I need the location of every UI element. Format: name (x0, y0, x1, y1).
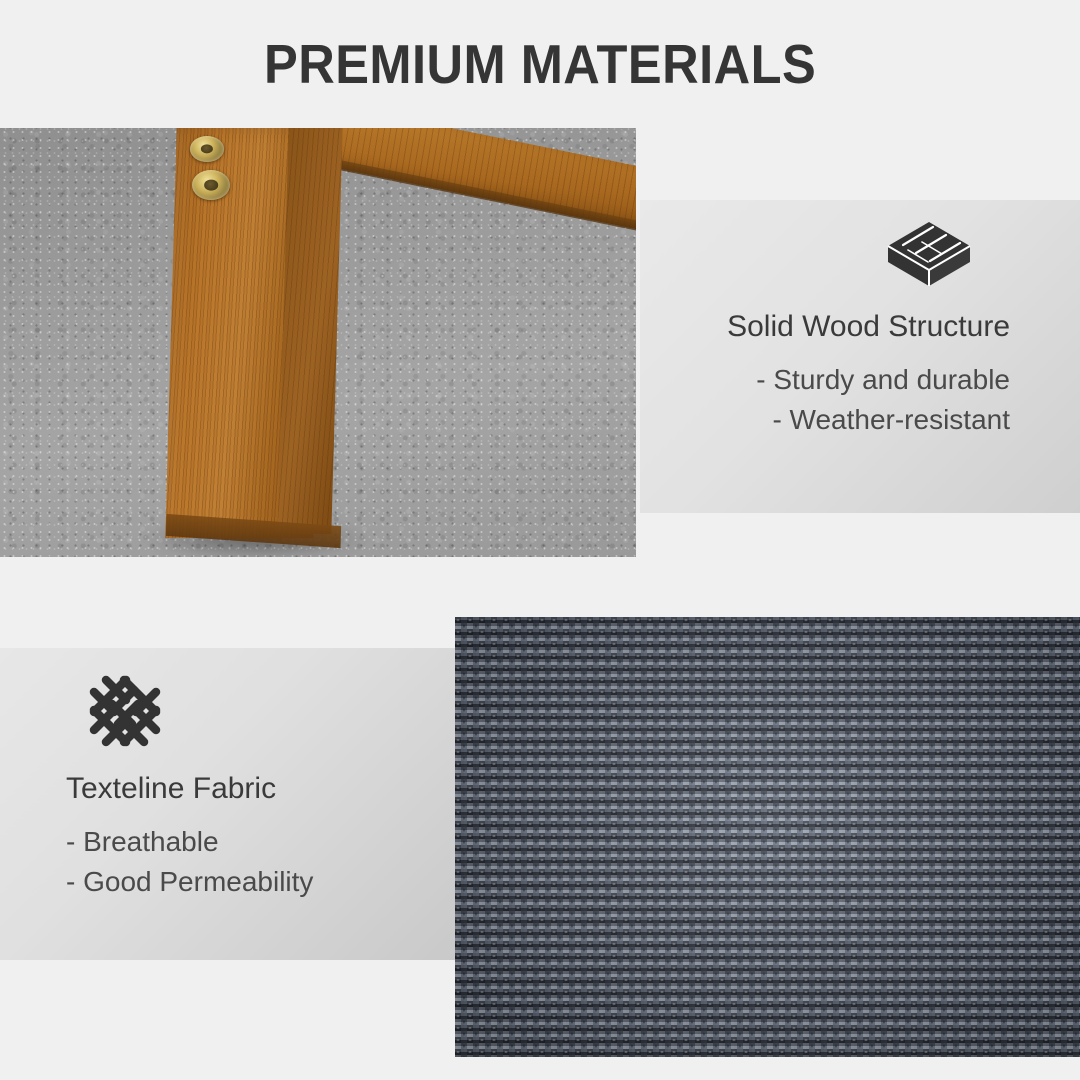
feature-heading: Texteline Fabric (66, 771, 276, 808)
textilene-fabric-photo (455, 617, 1080, 1057)
feature-panel-solid-wood: Solid Wood Structure - Sturdy and durabl… (640, 200, 1080, 513)
woven-fabric-icon (84, 670, 166, 757)
feature-bullet: - Sturdy and durable (756, 360, 1010, 400)
wood-leg-photo (0, 128, 636, 557)
feature-heading: Solid Wood Structure (727, 309, 1010, 346)
screw-icon (192, 170, 230, 200)
photo-vignette (455, 617, 1080, 1057)
feature-panel-texteline-fabric: Texteline Fabric - Breathable - Good Per… (0, 648, 455, 960)
wood-leg-side-face (277, 128, 342, 534)
page-title: PREMIUM MATERIALS (264, 32, 816, 96)
page-header: PREMIUM MATERIALS (0, 0, 1080, 128)
feature-bullet: - Breathable (66, 822, 219, 862)
screw-icon (190, 136, 224, 162)
feature-bullet: - Good Permeability (66, 862, 313, 902)
wood-planks-icon (886, 218, 972, 295)
feature-bullet: - Weather-resistant (772, 400, 1010, 440)
